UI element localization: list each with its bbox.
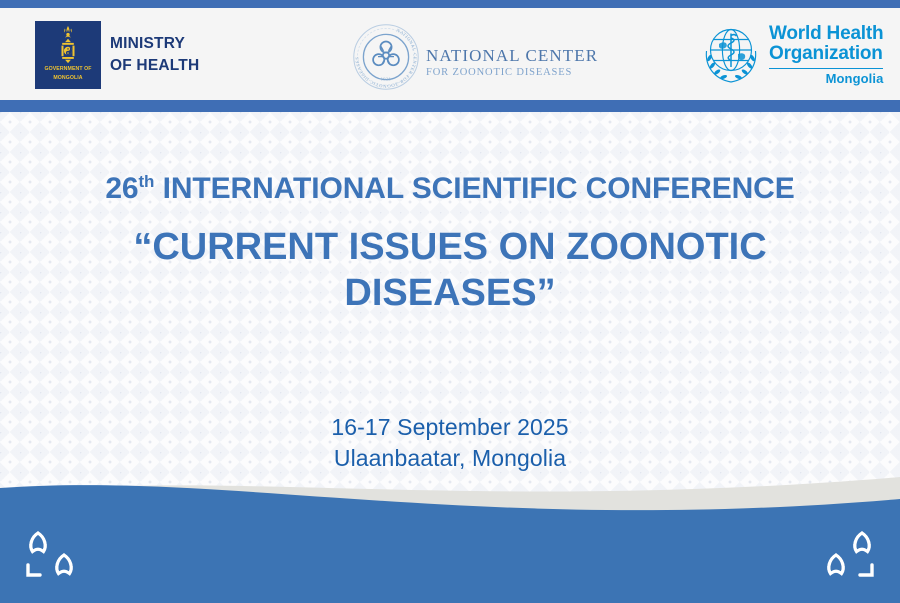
svg-text:1931: 1931 (381, 77, 392, 82)
national-center-zoonotic-diseases-logo: NATIONAL CENTER FOR ZOONOTIC DISEASES 19… (352, 22, 598, 92)
national-center-line2: FOR ZOONOTIC DISEASES (426, 67, 598, 78)
zoonotic-seal-biohazard-icon: NATIONAL CENTER FOR ZOONOTIC DISEASES 19… (352, 23, 420, 91)
mongolia-state-emblem-icon: GOVERNMENT OF MONGOLIA (35, 21, 101, 89)
mongolian-knot-ornament-right (810, 525, 884, 585)
who-emblem-icon (700, 24, 762, 86)
mongolian-knot-ornament-left (16, 525, 90, 585)
national-center-line1: NATIONAL CENTER (426, 46, 598, 66)
who-name-line2: Organization (769, 44, 883, 65)
who-mongolia-logo: World Health Organization Mongolia (700, 20, 883, 90)
conference-title-slide: GOVERNMENT OF MONGOLIA MINISTRY OF HEALT… (0, 0, 900, 603)
who-name-line1: World Health (769, 24, 883, 45)
emblem-caption-line2: MONGOLIA (35, 75, 101, 81)
conference-ordinal-suffix: th (139, 172, 155, 191)
who-divider-rule (769, 68, 883, 70)
who-country-label: Mongolia (769, 71, 883, 86)
soyombo-symbol-icon (53, 25, 83, 65)
conference-heading: 26th INTERNATIONAL SCIENTIFIC CONFERENCE (0, 172, 900, 205)
conference-theme: “CURRENT ISSUES ON ZOONOTIC DISEASES” (0, 224, 900, 317)
event-dates: 16-17 September 2025 (0, 412, 900, 443)
emblem-caption-line1: GOVERNMENT OF (35, 66, 101, 72)
ministry-of-health-name: MINISTRY OF HEALTH (110, 33, 199, 77)
conference-heading-text: INTERNATIONAL SCIENTIFIC CONFERENCE (154, 172, 794, 205)
national-center-name: NATIONAL CENTER FOR ZOONOTIC DISEASES (426, 36, 598, 78)
bottom-wave-decoration (0, 473, 900, 603)
event-details-block: 16-17 September 2025 Ulaanbaatar, Mongol… (0, 412, 900, 475)
event-location: Ulaanbaatar, Mongolia (0, 443, 900, 474)
who-wordmark: World Health Organization Mongolia (769, 24, 883, 87)
ministry-name-line2: OF HEALTH (110, 55, 199, 77)
header-divider-bar (0, 100, 900, 112)
conference-number: 26 (105, 172, 138, 205)
ministry-of-health-logo: GOVERNMENT OF MONGOLIA MINISTRY OF HEALT… (35, 21, 199, 89)
ministry-name-line1: MINISTRY (110, 33, 199, 55)
top-accent-bar (0, 0, 900, 8)
title-block: 26th INTERNATIONAL SCIENTIFIC CONFERENCE… (0, 172, 900, 317)
